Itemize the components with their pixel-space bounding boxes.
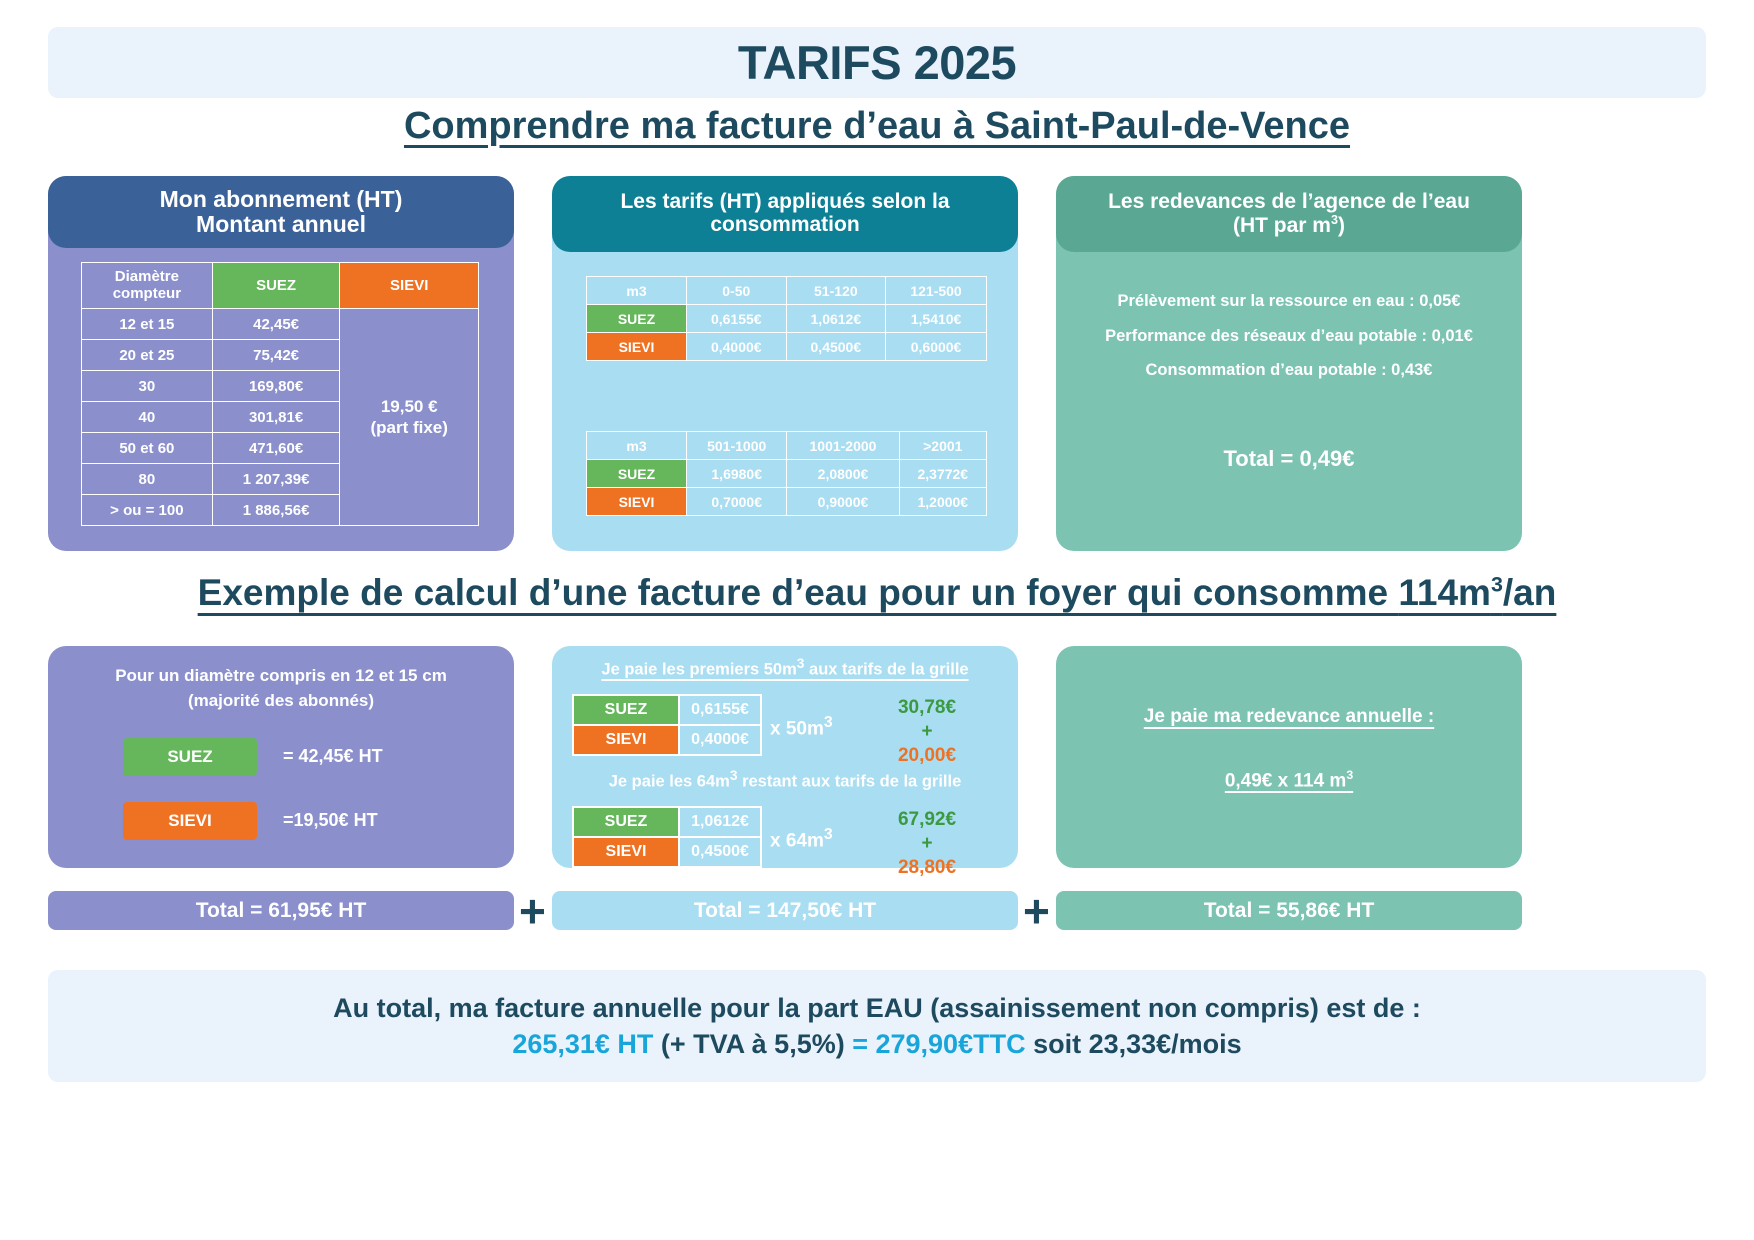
column-header-suez: SUEZ — [212, 263, 340, 309]
cubic-exponent: 3 — [824, 714, 833, 731]
cell-suez: 75,42€ — [212, 340, 340, 371]
cell-rate: 0,7000€ — [687, 488, 787, 516]
table-row-suez: SUEZ 0,6155€ 1,0612€ 1,5410€ — [587, 305, 987, 333]
corner-label: m3 — [587, 432, 687, 460]
result-plus: + — [921, 721, 932, 742]
cell-rate: 0,6000€ — [886, 333, 987, 361]
cell-diameter: 80 — [82, 464, 213, 495]
cell-rate-suez: 1,0612€ — [679, 807, 761, 837]
card-tariffs-title-line2: consommation — [710, 213, 859, 236]
footer-amount-ht: 265,31€ HT — [512, 1029, 653, 1059]
tariff-table-low: m3 0-50 51-120 121-500 SUEZ 0,6155€ 1,06… — [586, 276, 987, 361]
cubic-exponent: 3 — [730, 768, 738, 783]
column-header-diameter: Diamètre compteur — [82, 263, 213, 309]
cell-rate: 2,0800€ — [787, 460, 899, 488]
total-bar-royalties: Total = 55,86€ HT — [1056, 891, 1522, 930]
example-rate-table-1: SUEZ 0,6155€ SIEVI 0,4000€ — [572, 694, 762, 756]
table-row: 12 et 15 42,45€ 19,50 € (part fixe) — [82, 309, 479, 340]
royalty-line: Consommation d’eau potable : 0,43€ — [1076, 353, 1502, 388]
cell-rate: 1,0612€ — [786, 305, 886, 333]
plus-sign-2: + — [1023, 884, 1050, 938]
example-multiplier-1: x 50m3 — [770, 714, 833, 740]
card-royalties: Les redevances de l’agence de l’eau (HT … — [1056, 176, 1522, 551]
result-plus: + — [921, 833, 932, 854]
label-1-post: aux tarifs de la grille — [804, 661, 968, 679]
cubic-exponent: 3 — [1346, 768, 1353, 782]
table-row-suez: SUEZ 1,0612€ — [573, 807, 761, 837]
example-card-royalties: Je paie ma redevance annuelle : 0,49€ x … — [1056, 646, 1522, 868]
footer-amount-ttc: = 279,90€TTC — [852, 1029, 1025, 1059]
cell-suez: 1 207,39€ — [212, 464, 340, 495]
example-right-line2: 0,49€ x 114 m3 — [1076, 768, 1502, 792]
title-band: TARIFS 2025 — [48, 27, 1706, 98]
row-label-sievi: SIEVI — [573, 725, 679, 755]
cell-diameter: > ou = 100 — [82, 495, 213, 526]
page-subtitle: Comprendre ma facture d’eau à Saint-Paul… — [0, 105, 1754, 148]
result-suez: 67,92€ — [898, 809, 956, 830]
table-row-suez: SUEZ 0,6155€ — [573, 695, 761, 725]
column-header-range: >2001 — [899, 432, 986, 460]
total-bar-subscription: Total = 61,95€ HT — [48, 891, 514, 930]
cubic-exponent: 3 — [1491, 573, 1503, 597]
example-heading-volume: 114m — [1398, 572, 1491, 613]
cell-suez: 42,45€ — [212, 309, 340, 340]
row-label-suez: SUEZ — [587, 460, 687, 488]
cubic-exponent: 3 — [1331, 213, 1338, 227]
example-mid-label-2: Je paie les 64m3 restant aux tarifs de l… — [568, 768, 1002, 792]
table-row-sievi: SIEVI 0,7000€ 0,9000€ 1,2000€ — [587, 488, 987, 516]
cell-rate: 2,3772€ — [899, 460, 986, 488]
tariff-table-high: m3 501-1000 1001-2000 >2001 SUEZ 1,6980€… — [586, 431, 987, 516]
cell-rate: 0,6155€ — [687, 305, 787, 333]
example-result-1: 30,78€ + 20,00€ — [852, 696, 1002, 767]
multiplier-text: x 64m — [770, 830, 824, 851]
table-row-sievi: SIEVI 0,4000€ — [573, 725, 761, 755]
corner-label: m3 — [587, 277, 687, 305]
royalty-line: Performance des réseaux d’eau potable : … — [1076, 319, 1502, 354]
card-subscription-title-line1: Mon abonnement (HT) — [160, 186, 403, 212]
card-tariffs-header: Les tarifs (HT) appliqués selon la conso… — [552, 176, 1018, 252]
example-result-2: 67,92€ + 28,80€ — [852, 808, 1002, 879]
footer-tva: (+ TVA à 5,5%) — [653, 1029, 852, 1059]
column-header-range: 51-120 — [786, 277, 886, 305]
cell-rate: 0,4000€ — [687, 333, 787, 361]
sievi-fixed-amount: 19,50 € — [381, 397, 438, 416]
column-header-range: 501-1000 — [687, 432, 787, 460]
cell-rate-suez: 0,6155€ — [679, 695, 761, 725]
card-royalties-title-line1: Les redevances de l’agence de l’eau — [1108, 190, 1470, 213]
row-label-suez: SUEZ — [587, 305, 687, 333]
example-heading-suffix: /an — [1503, 572, 1556, 613]
label-1-pre: Je paie les premiers 50m — [601, 661, 796, 679]
row-label-suez: SUEZ — [573, 695, 679, 725]
example-mid-label-1: Je paie les premiers 50m3 aux tarifs de … — [568, 656, 1002, 680]
example-left-intro-line1: Pour un diamètre compris en 12 et 15 cm — [115, 666, 447, 685]
card-subscription-title-line2: Montant annuel — [196, 211, 366, 237]
row-label-sievi: SIEVI — [587, 333, 687, 361]
example-left-intro-line2: (majorité des abonnés) — [188, 691, 374, 710]
cell-rate: 1,2000€ — [899, 488, 986, 516]
footer-summary: Au total, ma facture annuelle pour la pa… — [48, 970, 1706, 1082]
cell-sievi-fixed: 19,50 € (part fixe) — [340, 309, 479, 526]
total-bar-consumption: Total = 147,50€ HT — [552, 891, 1018, 930]
cell-suez: 471,60€ — [212, 433, 340, 464]
sievi-fixed-note: (part fixe) — [370, 418, 447, 437]
example-left-intro: Pour un diamètre compris en 12 et 15 cm … — [66, 664, 496, 713]
example-card-subscription: Pour un diamètre compris en 12 et 15 cm … — [48, 646, 514, 868]
cell-rate-sievi: 0,4500€ — [679, 837, 761, 867]
infographic-page: TARIFS 2025 Comprendre ma facture d’eau … — [0, 0, 1754, 1240]
royalties-list: Prélèvement sur la ressource en eau : 0,… — [1076, 284, 1502, 388]
footer-per-month: soit 23,33€/mois — [1026, 1029, 1242, 1059]
row-label-suez: SUEZ — [573, 807, 679, 837]
column-header-range: 121-500 — [886, 277, 987, 305]
column-header-range: 0-50 — [687, 277, 787, 305]
cubic-exponent: 3 — [824, 826, 833, 843]
cell-rate: 1,6980€ — [687, 460, 787, 488]
example-left-suez-value: = 42,45€ HT — [283, 746, 383, 767]
card-royalties-header: Les redevances de l’agence de l’eau (HT … — [1056, 176, 1522, 252]
cell-diameter: 40 — [82, 402, 213, 433]
multiplier-text: x 50m — [770, 718, 824, 739]
header-diameter-line2: compteur — [113, 285, 181, 302]
cell-diameter: 20 et 25 — [82, 340, 213, 371]
cell-rate-sievi: 0,4000€ — [679, 725, 761, 755]
page-title: TARIFS 2025 — [738, 35, 1016, 90]
row-label-sievi: SIEVI — [573, 837, 679, 867]
example-multiplier-2: x 64m3 — [770, 826, 833, 852]
table-row-sievi: SIEVI 0,4000€ 0,4500€ 0,6000€ — [587, 333, 987, 361]
cell-suez: 169,80€ — [212, 371, 340, 402]
card-subscription-header: Mon abonnement (HT) Montant annuel — [48, 176, 514, 248]
result-sievi: 20,00€ — [898, 745, 956, 766]
label-2-pre: Je paie les 64m — [609, 773, 730, 791]
cell-suez: 301,81€ — [212, 402, 340, 433]
royalties-total: Total = 0,49€ — [1056, 446, 1522, 472]
result-suez: 30,78€ — [898, 697, 956, 718]
cell-suez: 1 886,56€ — [212, 495, 340, 526]
label-2-post: restant aux tarifs de la grille — [738, 773, 962, 791]
royalty-calc-text: 0,49€ x 114 m — [1225, 770, 1347, 791]
card-royalties-title-line2-end: ) — [1338, 214, 1345, 237]
example-heading: Exemple de calcul d’une facture d’eau po… — [0, 572, 1754, 614]
header-diameter-line1: Diamètre — [115, 268, 179, 285]
card-tariffs: Les tarifs (HT) appliqués selon la conso… — [552, 176, 1018, 551]
plus-sign-1: + — [519, 884, 546, 938]
table-header-row: m3 501-1000 1001-2000 >2001 — [587, 432, 987, 460]
table-row-sievi: SIEVI 0,4500€ — [573, 837, 761, 867]
table-row-suez: SUEZ 1,6980€ 2,0800€ 2,3772€ — [587, 460, 987, 488]
card-tariffs-title-line1: Les tarifs (HT) appliqués selon la — [620, 190, 949, 213]
footer-line2: 265,31€ HT (+ TVA à 5,5%) = 279,90€TTC s… — [512, 1029, 1241, 1060]
card-royalties-title-line2: (HT par m — [1233, 214, 1331, 237]
result-sievi: 28,80€ — [898, 857, 956, 878]
cell-diameter: 30 — [82, 371, 213, 402]
row-label-sievi: SIEVI — [587, 488, 687, 516]
cell-diameter: 50 et 60 — [82, 433, 213, 464]
column-header-range: 1001-2000 — [787, 432, 899, 460]
example-left-sievi-value: =19,50€ HT — [283, 810, 378, 831]
cell-rate: 0,4500€ — [786, 333, 886, 361]
cell-rate: 1,5410€ — [886, 305, 987, 333]
royalty-line: Prélèvement sur la ressource en eau : 0,… — [1076, 284, 1502, 319]
subscription-table: Diamètre compteur SUEZ SIEVI 12 et 15 42… — [81, 262, 479, 526]
table-header-row: m3 0-50 51-120 121-500 — [587, 277, 987, 305]
badge-sievi: SIEVI — [123, 802, 257, 840]
table-header-row: Diamètre compteur SUEZ SIEVI — [82, 263, 479, 309]
cell-diameter: 12 et 15 — [82, 309, 213, 340]
badge-suez: SUEZ — [123, 738, 257, 776]
example-heading-text: Exemple de calcul d’une facture d’eau po… — [198, 572, 1399, 613]
cell-rate: 0,9000€ — [787, 488, 899, 516]
example-rate-table-2: SUEZ 1,0612€ SIEVI 0,4500€ — [572, 806, 762, 868]
example-right-line1: Je paie ma redevance annuelle : — [1076, 706, 1502, 728]
card-subscription: Mon abonnement (HT) Montant annuel Diamè… — [48, 176, 514, 551]
column-header-sievi: SIEVI — [340, 263, 479, 309]
example-card-consumption: Je paie les premiers 50m3 aux tarifs de … — [552, 646, 1018, 868]
footer-line1: Au total, ma facture annuelle pour la pa… — [333, 993, 1421, 1024]
